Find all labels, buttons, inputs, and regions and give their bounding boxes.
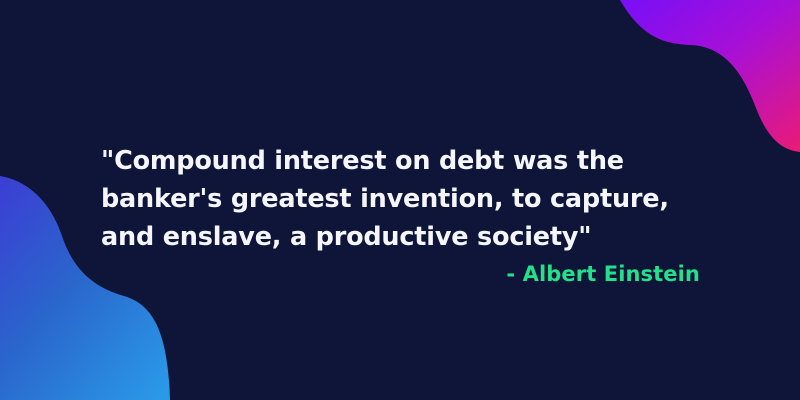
quote-attribution: - Albert Einstein [506,262,700,286]
quote-text: "Compound interest on debt was the banke… [101,142,701,256]
card-content: "Compound interest on debt was the banke… [0,0,800,400]
quote-card: "Compound interest on debt was the banke… [0,0,800,400]
